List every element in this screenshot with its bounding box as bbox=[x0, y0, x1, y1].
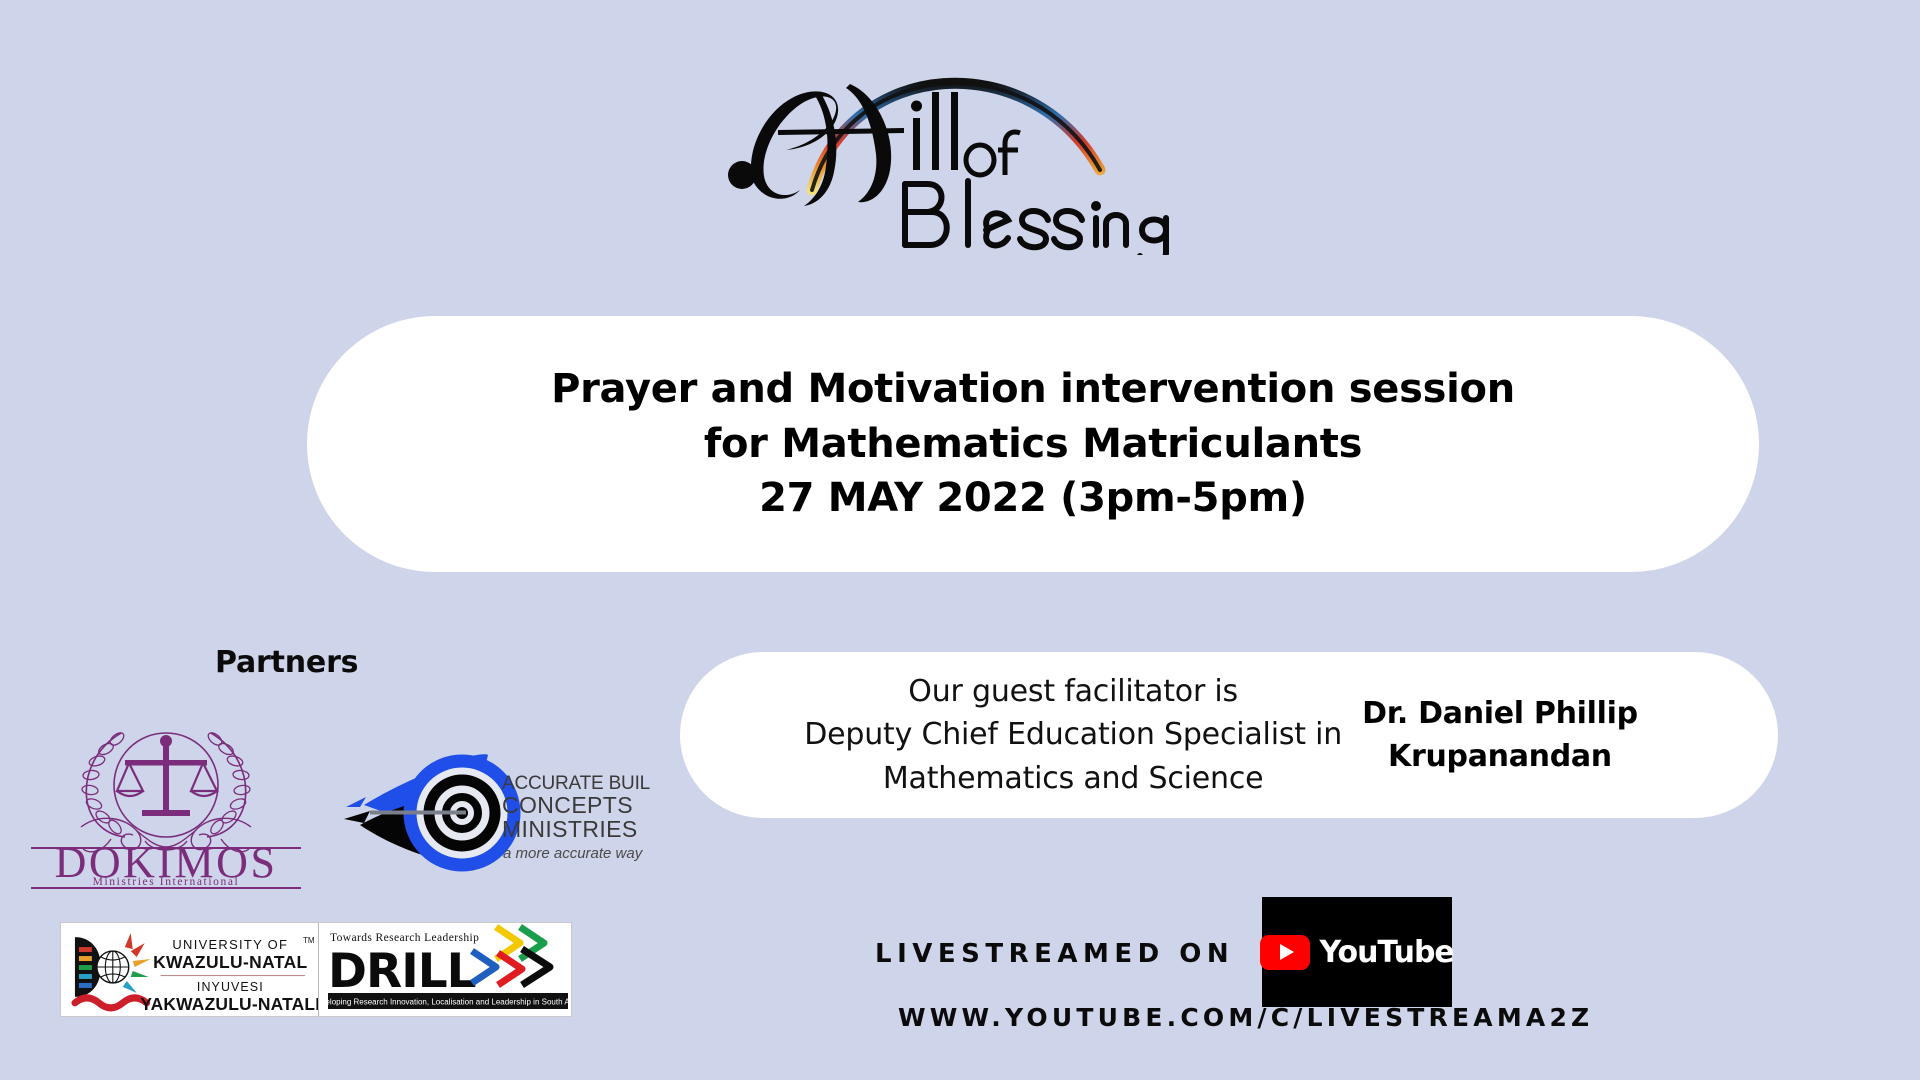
accurate-building-concepts-ministries-logo: ACCURATE BUILDING CONCEPTS MINISTRIES a … bbox=[330, 745, 650, 880]
svg-text:KWAZULU-NATAL: KWAZULU-NATAL bbox=[153, 952, 308, 972]
youtube-play-icon bbox=[1260, 935, 1310, 970]
svg-text:CONCEPTS: CONCEPTS bbox=[502, 792, 633, 818]
svg-text:YAKWAZULU-NATALI: YAKWAZULU-NATALI bbox=[140, 994, 318, 1014]
svg-text:Developing Research Innovation: Developing Research Innovation, Localisa… bbox=[319, 998, 571, 1007]
livestream-row: LIVESTREAMED ON YouTube bbox=[875, 900, 1452, 1007]
title-line-2: for Mathematics Matriculants bbox=[704, 418, 1362, 471]
svg-text:UNIVERSITY OF: UNIVERSITY OF bbox=[172, 937, 288, 952]
facilitator-intro: Our guest facilitator is Deputy Chief Ed… bbox=[804, 670, 1356, 801]
university-of-kwazulu-natal-logo: UNIVERSITY OF KWAZULU-NATAL TM INYUVESI … bbox=[61, 923, 319, 1016]
abc-artwork: ACCURATE BUILDING CONCEPTS MINISTRIES a … bbox=[330, 745, 650, 880]
youtube-logo[interactable]: YouTube bbox=[1262, 897, 1452, 1007]
title-line-3: 27 MAY 2022 (3pm-5pm) bbox=[759, 472, 1307, 525]
livestreamed-on-label: LIVESTREAMED ON bbox=[875, 939, 1234, 969]
svg-text:INYUVESI: INYUVESI bbox=[197, 980, 264, 994]
svg-text:a more accurate way: a more accurate way bbox=[503, 845, 644, 862]
facilitator-intro-line-1: Our guest facilitator is bbox=[804, 670, 1342, 714]
svg-text:Towards Research Leadership: Towards Research Leadership bbox=[330, 932, 479, 944]
dokimos-artwork: DOKIMOS Ministries International bbox=[25, 705, 307, 890]
facilitator-name-line-2: Krupanandan bbox=[1362, 735, 1638, 779]
drill-artwork: Towards Research Leadership DRILL Develo… bbox=[319, 923, 571, 1016]
svg-text:ACCURATE BUILDING: ACCURATE BUILDING bbox=[502, 773, 650, 794]
youtube-wordmark: YouTube bbox=[1319, 935, 1453, 970]
facilitator-card: Our guest facilitator is Deputy Chief Ed… bbox=[680, 652, 1778, 818]
svg-text:Ministries International: Ministries International bbox=[93, 876, 240, 888]
youtube-channel-url[interactable]: WWW.YOUTUBE.COM/C/LIVESTREAMA2Z bbox=[898, 1003, 1593, 1032]
dokimos-ministries-international-logo: DOKIMOS Ministries International bbox=[25, 705, 307, 890]
facilitator-intro-line-2: Deputy Chief Education Specialist in bbox=[804, 713, 1342, 757]
facilitator-name: Dr. Daniel Phillip Krupanandan bbox=[1356, 692, 1638, 779]
logo-artwork bbox=[700, 40, 1220, 255]
ukzn-artwork: UNIVERSITY OF KWAZULU-NATAL TM INYUVESI … bbox=[61, 923, 318, 1016]
event-title-card: Prayer and Motivation intervention sessi… bbox=[307, 316, 1759, 572]
event-poster: Prayer and Motivation intervention sessi… bbox=[0, 0, 1920, 1080]
title-line-1: Prayer and Motivation intervention sessi… bbox=[551, 363, 1515, 416]
svg-text:TM: TM bbox=[303, 936, 314, 945]
facilitator-name-line-1: Dr. Daniel Phillip bbox=[1362, 692, 1638, 736]
hill-of-blessing-logo bbox=[700, 40, 1220, 255]
svg-text:MINISTRIES: MINISTRIES bbox=[502, 816, 638, 842]
svg-text:DRILL: DRILL bbox=[328, 944, 476, 999]
drill-logo: Towards Research Leadership DRILL Develo… bbox=[319, 923, 571, 1016]
ukzn-drill-partner-logos: UNIVERSITY OF KWAZULU-NATAL TM INYUVESI … bbox=[60, 922, 572, 1017]
partners-heading: Partners bbox=[215, 645, 358, 680]
facilitator-intro-line-3: Mathematics and Science bbox=[804, 757, 1342, 801]
